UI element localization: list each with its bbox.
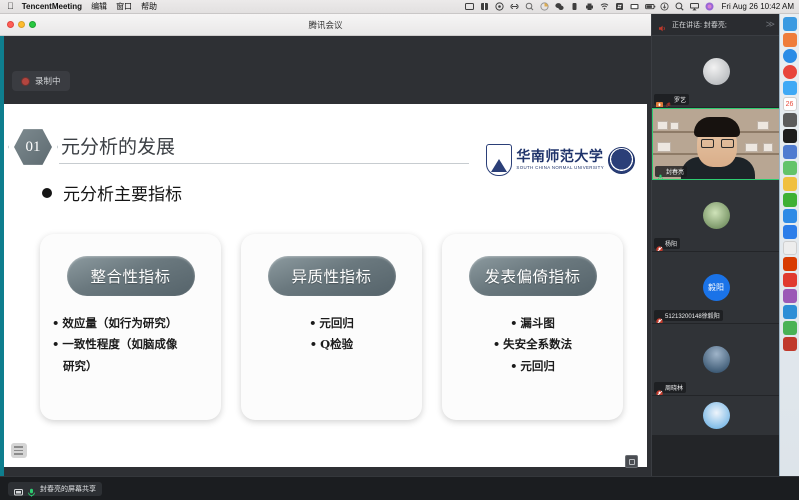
mic-muted-icon — [656, 96, 663, 103]
participant-name-tag: 周晓林 — [654, 382, 686, 393]
screen-root:  TencentMeeting 编辑 窗口 帮助 Fri Aug 26 10:… — [0, 0, 799, 500]
list-item: •一致性程度（如脑成像 — [52, 335, 209, 353]
messages-icon[interactable] — [783, 81, 797, 95]
cartoon-avatar — [703, 402, 730, 429]
magnifier-icon[interactable] — [525, 2, 534, 11]
notes-icon[interactable] — [783, 177, 797, 191]
calendar-icon[interactable]: 26 — [783, 97, 797, 111]
card-bullet-list: •漏斗图 •失安全系数法 •元回归 — [442, 314, 623, 375]
participant-tile-active[interactable]: 封春亮 — [652, 108, 779, 180]
preview-icon[interactable] — [783, 241, 797, 255]
bullet-dot-icon — [42, 188, 52, 198]
menu-item-edit[interactable]: 编辑 — [91, 1, 107, 12]
book-icon[interactable] — [480, 2, 489, 11]
menu-status-area: Fri Aug 26 10:42 AM — [465, 2, 799, 11]
annotate-icon[interactable] — [625, 455, 638, 468]
dock-strip: 26 — [779, 14, 799, 476]
participant-tile[interactable] — [652, 396, 779, 436]
recording-label: 录制中 — [35, 75, 61, 87]
participants-panel: 正在讲话: 封春亮; ≫ 罗艺 — [651, 14, 779, 476]
finder-icon[interactable] — [783, 17, 797, 31]
chrome-icon[interactable] — [783, 65, 797, 79]
stats-icon[interactable] — [783, 145, 797, 159]
participant-tile[interactable]: 杨阳 — [652, 180, 779, 252]
shield-icon — [486, 144, 512, 176]
photos-icon[interactable] — [783, 113, 797, 127]
list-item-text: 元回归 — [520, 359, 555, 373]
card-heading-text: 整合性指标 — [90, 265, 170, 287]
slide-section-title: 元分析的发展 — [61, 132, 175, 159]
shared-screen-stage: 录制中 01 元分析的发展 华南师范大学 SOUTH CHINA NORMAL … — [0, 36, 651, 476]
mic-muted-icon — [656, 240, 663, 247]
card-heading-pill: 发表偏倚指标 — [469, 256, 597, 296]
recording-indicator[interactable]: 录制中 — [12, 71, 70, 91]
list-item: •Q检验 — [253, 335, 410, 353]
participant-tiles: 罗艺 — [652, 36, 779, 476]
wechat-icon[interactable] — [783, 193, 797, 207]
slide-list-icon[interactable] — [11, 443, 27, 458]
list-item-text: 一致性程度（如脑成像 — [62, 337, 177, 351]
title-divider — [59, 163, 469, 164]
list-item-text: 元回归 — [319, 316, 354, 330]
slide-main-bullet-text: 元分析主要指标 — [63, 180, 182, 205]
participant-name-tag: 51213200148徐毅阳 — [654, 310, 723, 321]
list-item: 研究） — [52, 357, 209, 375]
participant-name-tag: 杨阳 — [654, 238, 680, 249]
launchpad-icon[interactable] — [783, 33, 797, 47]
participant-name: 封春亮 — [666, 167, 684, 176]
wechat-icon[interactable] — [555, 2, 564, 11]
person-photo-avatar — [703, 346, 730, 373]
blue-initials-avatar: 毅阳 — [703, 274, 730, 301]
speaking-label: 正在讲话: 封春亮; — [672, 20, 727, 30]
menu-item-help[interactable]: 帮助 — [141, 1, 157, 12]
slide-cards: 整合性指标 •效应量（如行为研究） •一致性程度（如脑成像 研究） 异质性指标 — [40, 234, 623, 420]
onedrive-icon[interactable] — [783, 305, 797, 319]
card-heading-pill: 异质性指标 — [268, 256, 396, 296]
card-publication-bias: 发表偏倚指标 •漏斗图 •失安全系数法 •元回归 — [442, 234, 623, 420]
pie-chart-icon[interactable] — [540, 2, 549, 11]
download-icon[interactable] — [660, 2, 669, 11]
card-heterogeneity: 异质性指标 •元回归 •Q检验 — [241, 234, 422, 420]
university-logo: 华南师范大学 SOUTH CHINA NORMAL UNIVERSITY — [486, 144, 635, 176]
taskbar-screenshare-item[interactable]: 封春亮的屏幕共享 — [8, 482, 102, 496]
list-item-text: 研究） — [63, 359, 98, 373]
participant-name: 周晓林 — [665, 383, 683, 392]
list-item: •失安全系数法 — [454, 335, 611, 353]
mic-on-icon — [27, 484, 36, 493]
safari-icon[interactable] — [783, 49, 797, 63]
menu-app-name[interactable]: TencentMeeting — [22, 2, 82, 11]
list-item-text: 失安全系数法 — [503, 337, 572, 351]
participant-name: 杨阳 — [665, 239, 677, 248]
slide-header: 01 元分析的发展 华南师范大学 SOUTH CHINA NORMAL UNIV… — [4, 126, 647, 166]
participant-name-tag: 罗艺 — [654, 94, 689, 105]
card-heading-text: 发表偏倚指标 — [484, 265, 580, 287]
mic-on-icon — [657, 168, 664, 175]
list-item-text: 效应量（如行为研究） — [62, 316, 177, 330]
slide-main-bullet: 元分析主要指标 — [42, 180, 182, 205]
card-integrative: 整合性指标 •效应量（如行为研究） •一致性程度（如脑成像 研究） — [40, 234, 221, 420]
speaker-icon — [658, 20, 667, 29]
presentation-slide: 01 元分析的发展 华南师范大学 SOUTH CHINA NORMAL UNIV… — [4, 104, 647, 467]
list-item: •元回归 — [454, 357, 611, 375]
window-title: 腾讯会议 — [0, 19, 651, 31]
menu-item-window[interactable]: 窗口 — [116, 1, 132, 12]
sync-icon[interactable] — [615, 2, 624, 11]
gray-sphere-avatar — [703, 58, 730, 85]
apple-icon[interactable]:  — [7, 2, 14, 11]
taskbar-item-label: 封春亮的屏幕共享 — [40, 484, 96, 494]
window-title-bar: 腾讯会议 — [0, 14, 651, 36]
speaking-banner: 正在讲话: 封春亮; ≫ — [652, 14, 779, 36]
list-item: •元回归 — [253, 314, 410, 332]
participant-tile[interactable]: 罗艺 — [652, 36, 779, 108]
university-seal-icon — [608, 147, 635, 174]
list-item-text: Q检验 — [320, 337, 353, 351]
maps-icon[interactable] — [783, 161, 797, 175]
participant-name: 罗艺 — [674, 95, 686, 104]
list-item-text: 漏斗图 — [520, 316, 555, 330]
participant-tile[interactable]: 毅阳 51213200148徐毅阳 — [652, 252, 779, 324]
display-icon[interactable] — [630, 2, 639, 11]
record-dot-icon — [21, 77, 30, 86]
menu-clock[interactable]: Fri Aug 26 10:42 AM — [722, 2, 795, 11]
siri-icon[interactable] — [705, 2, 714, 11]
wifi-icon[interactable] — [600, 2, 609, 11]
list-item: •漏斗图 — [454, 314, 611, 332]
word-icon[interactable] — [783, 257, 797, 271]
keynote-icon[interactable] — [783, 289, 797, 303]
green-photo-avatar — [703, 202, 730, 229]
card-bullet-list: •效应量（如行为研究） •一致性程度（如脑成像 研究） — [40, 314, 221, 375]
printer-icon[interactable] — [585, 2, 594, 11]
spotlight-search-icon[interactable] — [675, 2, 684, 11]
eye-icon[interactable] — [495, 2, 504, 11]
tencent-meeting-icon[interactable] — [783, 225, 797, 239]
trash-icon[interactable] — [783, 337, 797, 351]
battery-icon[interactable] — [645, 2, 654, 11]
participant-name-tag: 封春亮 — [655, 166, 687, 177]
card-heading-pill: 整合性指标 — [67, 256, 195, 296]
university-names: 华南师范大学 SOUTH CHINA NORMAL UNIVERSITY — [516, 150, 604, 170]
university-name-cn: 华南师范大学 — [516, 150, 604, 165]
card-heading-text: 异质性指标 — [291, 265, 371, 287]
mail-icon[interactable] — [783, 209, 797, 223]
airplay-icon[interactable] — [690, 2, 699, 11]
evernote-icon[interactable] — [783, 321, 797, 335]
participant-tile[interactable]: 周晓林 — [652, 324, 779, 396]
mic-muted-icon — [656, 384, 663, 391]
university-name-en: SOUTH CHINA NORMAL UNIVERSITY — [516, 166, 604, 171]
hand-icon — [665, 96, 672, 103]
acrobat-icon[interactable] — [783, 273, 797, 287]
mic-muted-icon — [656, 312, 663, 319]
battery-vertical-icon[interactable] — [570, 2, 579, 11]
card-bullet-list: •元回归 •Q检验 — [241, 314, 422, 354]
taskbar: 封春亮的屏幕共享 — [0, 476, 799, 500]
screen-share-icon — [14, 484, 23, 493]
link-icon[interactable] — [510, 2, 519, 11]
terminal-icon[interactable] — [783, 129, 797, 143]
macos-menu-bar:  TencentMeeting 编辑 窗口 帮助 Fri Aug 26 10:… — [0, 0, 799, 14]
double-chevron-icon[interactable]: ≫ — [766, 19, 773, 30]
list-item: •效应量（如行为研究） — [52, 314, 209, 332]
screen-mirroring-icon[interactable] — [465, 2, 474, 11]
participant-name: 51213200148徐毅阳 — [665, 311, 720, 320]
